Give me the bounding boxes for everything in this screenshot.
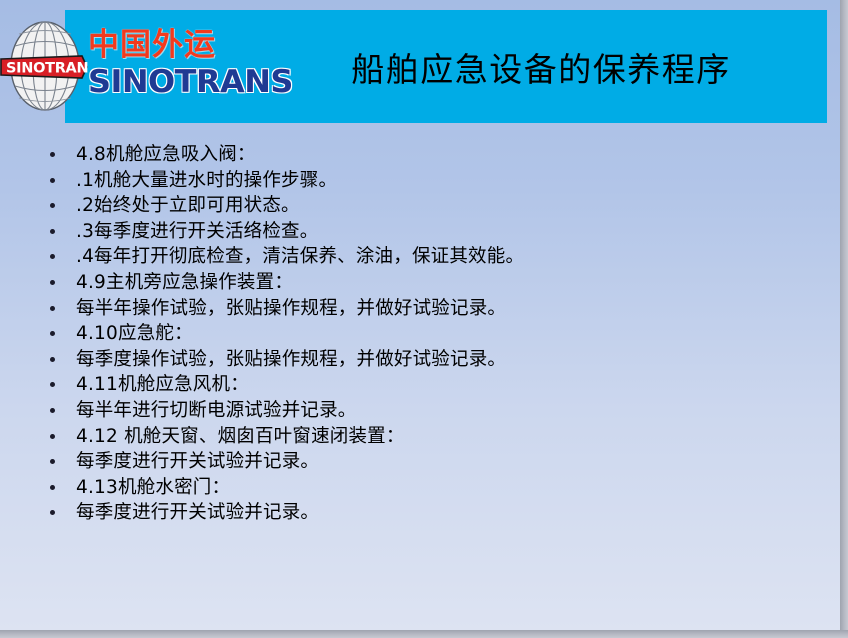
slide-edge-bottom (0, 630, 848, 638)
bullet-dot-icon (50, 203, 55, 208)
bullet-dot-icon (50, 254, 55, 259)
bullet-list-item: 每半年操作试验，张贴操作规程，并做好试验记录。 (0, 296, 840, 322)
bullet-item-text: 4.10应急舵： (76, 321, 193, 347)
bullet-item-text: 4.11机舱应急风机： (76, 372, 249, 398)
sinotrans-banner-icon: SINOTRANS (0, 54, 88, 80)
logo-chinese-name: 中国外运 (88, 26, 253, 64)
bullet-list-item: 每季度进行开关试验并记录。 (0, 500, 840, 526)
slide-edge-right (840, 0, 848, 638)
slide-body-bullet-list: 4.8机舱应急吸入阀：.1机舱大量进水时的操作步骤。.2始终处于立即可用状态。.… (0, 142, 840, 526)
bullet-list-item: 每季度进行开关试验并记录。 (0, 449, 840, 475)
bullet-dot-icon (50, 434, 55, 439)
bullet-list-item: 每季度操作试验，张贴操作规程，并做好试验记录。 (0, 347, 840, 373)
bullet-list-item: .2始终处于立即可用状态。 (0, 193, 840, 219)
bullet-dot-icon (50, 280, 55, 285)
bullet-dot-icon (50, 382, 55, 387)
bullet-list-item: 4.12 机舱天窗、烟囱百叶窗速闭装置： (0, 424, 840, 450)
bullet-dot-icon (50, 510, 55, 515)
bullet-item-text: 4.12 机舱天窗、烟囱百叶窗速闭装置： (76, 424, 405, 450)
bullet-dot-icon (50, 459, 55, 464)
bullet-dot-icon (50, 357, 55, 362)
bullet-item-text: 4.9主机旁应急操作装置： (76, 270, 293, 296)
svg-text:SINOTRANS: SINOTRANS (6, 61, 88, 77)
bullet-item-text: 每半年进行切断电源试验并记录。 (76, 398, 357, 424)
bullet-item-text: 每季度进行开关试验并记录。 (76, 449, 319, 475)
slide-title: 船舶应急设备的保养程序 (255, 10, 827, 123)
bullet-item-text: .1机舱大量进水时的操作步骤。 (76, 168, 337, 194)
bullet-list-item: 4.10应急舵： (0, 321, 840, 347)
bullet-item-text: .3每季度进行开关活络检查。 (76, 219, 318, 245)
bullet-dot-icon (50, 229, 55, 234)
bullet-item-text: 4.13机舱水密门： (76, 475, 230, 501)
bullet-list-item: 4.8机舱应急吸入阀： (0, 142, 840, 168)
bullet-item-text: 4.8机舱应急吸入阀： (76, 142, 256, 168)
bullet-item-text: 每季度操作试验，张贴操作规程，并做好试验记录。 (76, 347, 506, 373)
presentation-slide: SINOTRANS 中国外运 SINOTRANS 船舶应急设备的保养程序 4.8… (0, 0, 840, 630)
logo-english-name: SINOTRANS (88, 64, 258, 100)
bullet-dot-icon (50, 306, 55, 311)
bullet-list-item: 每半年进行切断电源试验并记录。 (0, 398, 840, 424)
bullet-item-text: .2始终处于立即可用状态。 (76, 193, 300, 219)
bullet-list-item: .1机舱大量进水时的操作步骤。 (0, 168, 840, 194)
bullet-item-text: 每季度进行开关试验并记录。 (76, 500, 319, 526)
sinotrans-logo: SINOTRANS 中国外运 SINOTRANS (0, 18, 255, 116)
bullet-dot-icon (50, 152, 55, 157)
bullet-list-item: 4.11机舱应急风机： (0, 372, 840, 398)
bullet-dot-icon (50, 331, 55, 336)
bullet-list-item: .4每年打开彻底检查，清洁保养、涂油，保证其效能。 (0, 244, 840, 270)
bullet-item-text: 每半年操作试验，张贴操作规程，并做好试验记录。 (76, 296, 506, 322)
sinotrans-wordmark: 中国外运 SINOTRANS (88, 26, 253, 110)
bullet-dot-icon (50, 178, 55, 183)
bullet-dot-icon (50, 408, 55, 413)
bullet-list-item: 4.9主机旁应急操作装置： (0, 270, 840, 296)
bullet-item-text: .4每年打开彻底检查，清洁保养、涂油，保证其效能。 (76, 244, 524, 270)
bullet-list-item: .3每季度进行开关活络检查。 (0, 219, 840, 245)
bullet-list-item: 4.13机舱水密门： (0, 475, 840, 501)
bullet-dot-icon (50, 485, 55, 490)
